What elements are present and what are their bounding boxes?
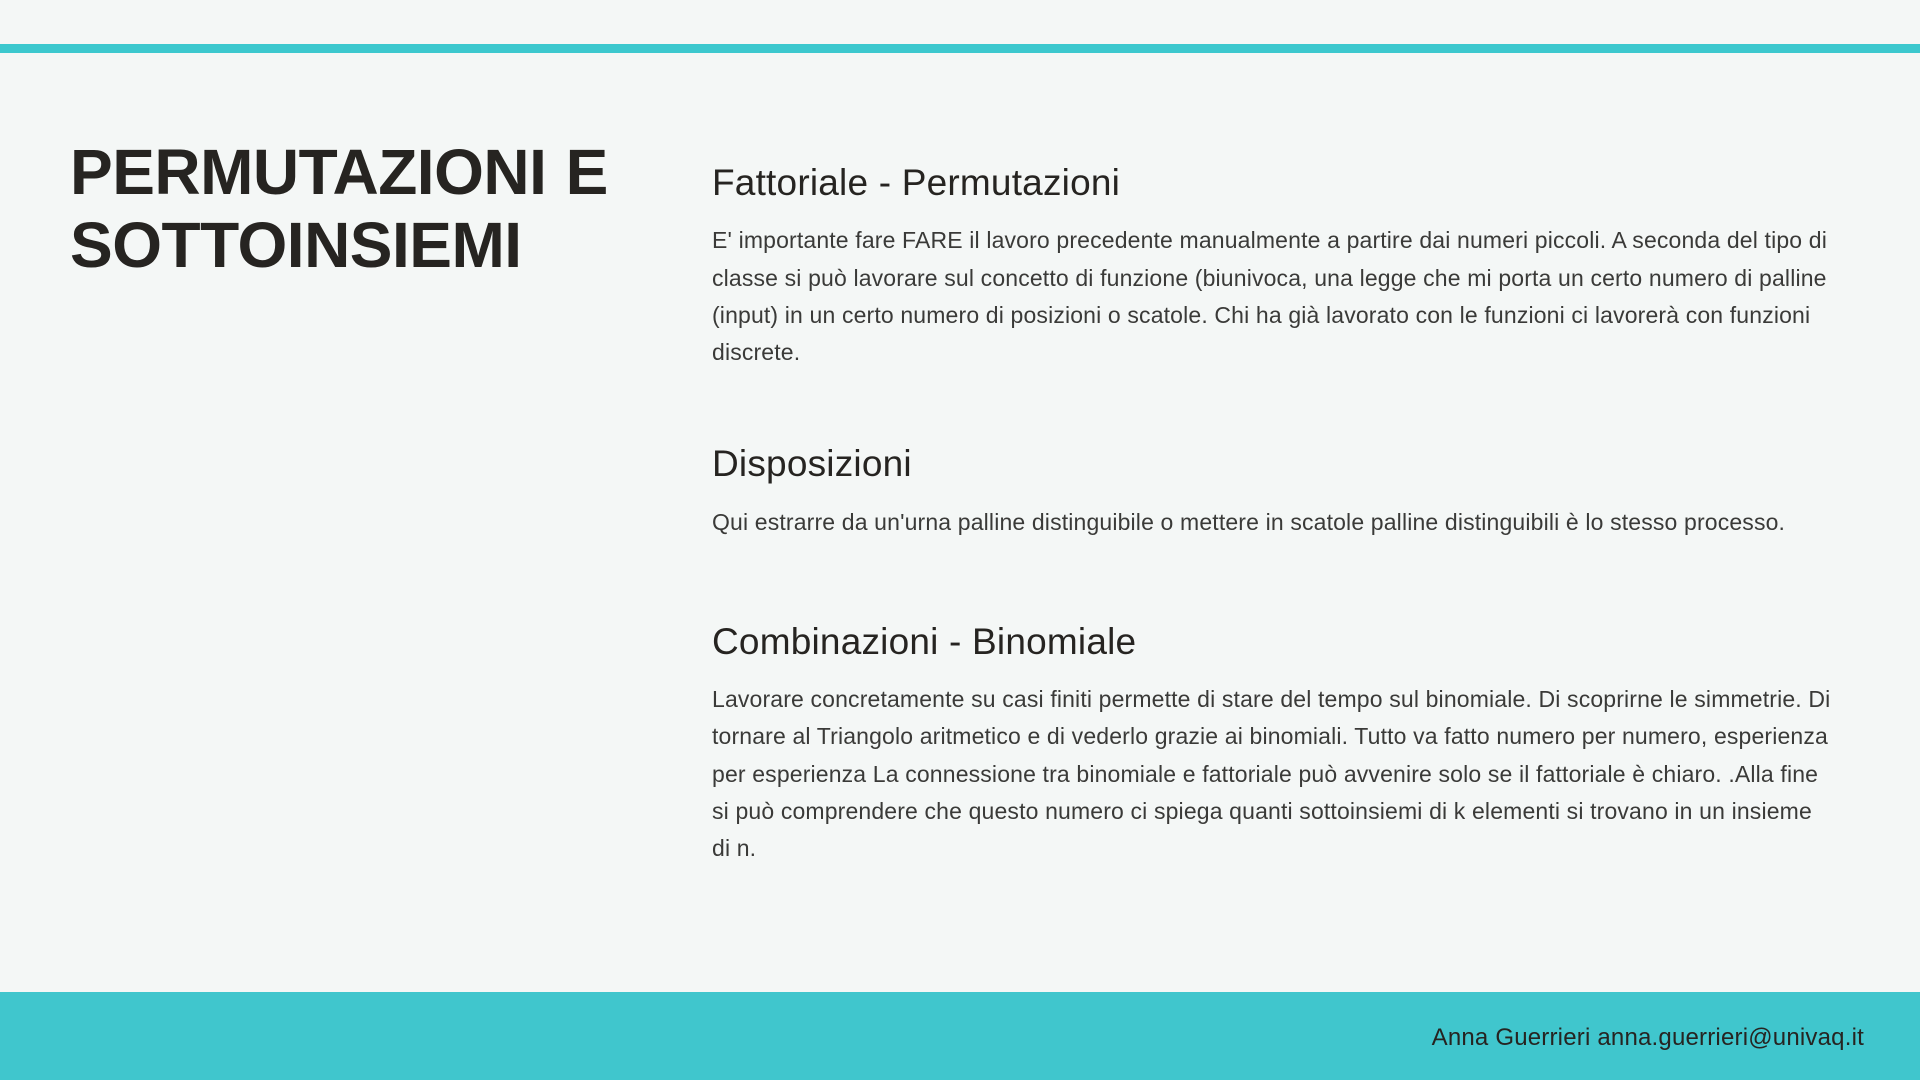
section-combinazioni-binomiale: Combinazioni - Binomiale Lavorare concre… (712, 619, 1862, 868)
section-heading: Fattoriale - Permutazioni (712, 160, 1862, 206)
footer-credit: Anna Guerrieri anna.guerrieri@univaq.it (1432, 1024, 1864, 1053)
section-heading: Disposizioni (712, 441, 1862, 487)
section-heading: Combinazioni - Binomiale (712, 619, 1862, 665)
slide-canvas: PERMUTAZIONI E SOTTOINSIEMI Fattoriale -… (0, 0, 1920, 1080)
content-column: Fattoriale - Permutazioni E' importante … (712, 160, 1862, 867)
page-title: PERMUTAZIONI E SOTTOINSIEMI (70, 136, 670, 282)
top-accent-rule (0, 44, 1920, 53)
section-disposizioni: Disposizioni Qui estrarre da un'urna pal… (712, 441, 1862, 541)
title-column: PERMUTAZIONI E SOTTOINSIEMI (70, 136, 670, 282)
section-body: Qui estrarre da un'urna palline distingu… (712, 504, 1832, 541)
section-fattoriale-permutazioni: Fattoriale - Permutazioni E' importante … (712, 160, 1862, 371)
section-body: E' importante fare FARE il lavoro preced… (712, 222, 1832, 371)
section-body: Lavorare concretamente su casi finiti pe… (712, 681, 1832, 867)
